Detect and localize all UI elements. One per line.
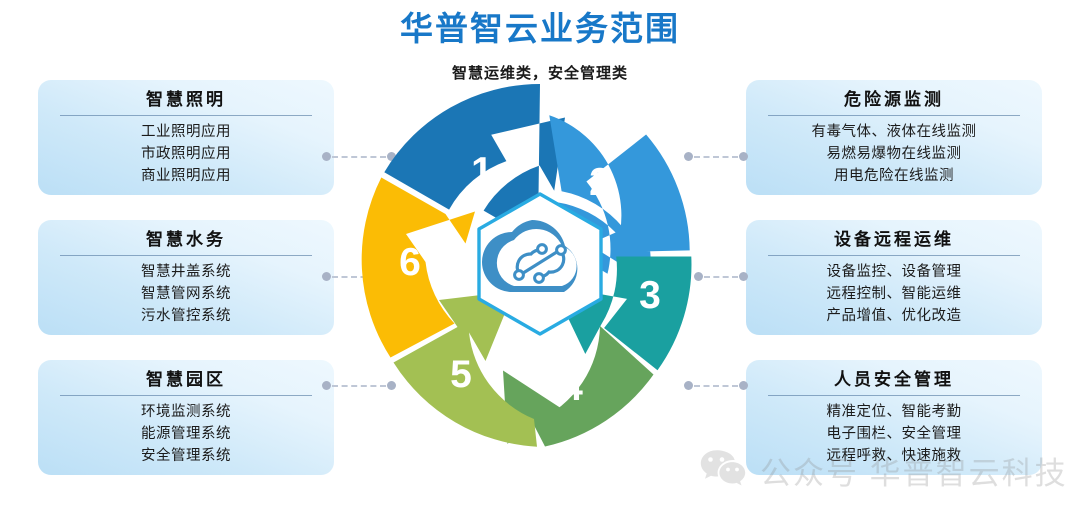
card-title: 智慧水务: [38, 229, 334, 251]
connector-dot: [322, 152, 331, 161]
card-line: 电子围栏、安全管理: [746, 423, 1042, 445]
card-line: 精准定位、智能考勤: [746, 401, 1042, 423]
page-subtitle: 智慧运维类，安全管理类: [0, 45, 1080, 83]
card-line: 设备监控、设备管理: [746, 261, 1042, 283]
card-line: 智慧井盖系统: [38, 261, 334, 283]
card-title: 设备远程运维: [746, 229, 1042, 251]
card-line-list: 工业照明应用 市政照明应用 商业照明应用: [38, 116, 334, 187]
card-title: 人员安全管理: [746, 369, 1042, 391]
segment-number-3: 3: [639, 274, 661, 317]
cycle-diagram: 1 2 3 4 5 6: [357, 82, 723, 448]
card-line: 产品增值、优化改造: [746, 305, 1042, 327]
connector-dot: [322, 272, 331, 281]
card-line: 安全管理系统: [38, 445, 334, 467]
card-line: 环境监测系统: [38, 401, 334, 423]
card-title: 智慧照明: [38, 89, 334, 111]
card-line: 远程呼救、快速施救: [746, 445, 1042, 467]
card-line: 市政照明应用: [38, 143, 334, 165]
segment-number-2: 2: [589, 161, 611, 204]
card-line: 能源管理系统: [38, 423, 334, 445]
card-smart-park[interactable]: 智慧园区 环境监测系统 能源管理系统 安全管理系统: [38, 360, 334, 475]
card-divider: [768, 395, 1020, 396]
card-line: 易燃易爆物在线监测: [746, 143, 1042, 165]
card-smart-lighting[interactable]: 智慧照明 工业照明应用 市政照明应用 商业照明应用: [38, 80, 334, 195]
card-line: 用电危险在线监测: [746, 165, 1042, 187]
card-smart-water[interactable]: 智慧水务 智慧井盖系统 智慧管网系统 污水管控系统: [38, 220, 334, 335]
card-divider: [60, 255, 312, 256]
title-area: 华普智云业务范围 智慧运维类，安全管理类: [0, 0, 1080, 83]
card-title: 智慧园区: [38, 369, 334, 391]
segment-number-4: 4: [561, 366, 583, 409]
card-line: 远程控制、智能运维: [746, 283, 1042, 305]
segment-number-1: 1: [471, 150, 493, 193]
card-divider: [768, 255, 1020, 256]
card-line-list: 环境监测系统 能源管理系统 安全管理系统: [38, 396, 334, 467]
card-line-list: 有毒气体、液体在线监测 易燃易爆物在线监测 用电危险在线监测: [746, 116, 1042, 187]
card-hazard-monitoring[interactable]: 危险源监测 有毒气体、液体在线监测 易燃易爆物在线监测 用电危险在线监测: [746, 80, 1042, 195]
connector-dot: [322, 381, 331, 390]
card-divider: [60, 115, 312, 116]
page-title: 华普智云业务范围: [0, 0, 1080, 45]
card-line: 智慧管网系统: [38, 283, 334, 305]
card-personnel-safety[interactable]: 人员安全管理 精准定位、智能考勤 电子围栏、安全管理 远程呼救、快速施救: [746, 360, 1042, 475]
card-line-list: 精准定位、智能考勤 电子围栏、安全管理 远程呼救、快速施救: [746, 396, 1042, 467]
card-line: 有毒气体、液体在线监测: [746, 121, 1042, 143]
segment-number-5: 5: [450, 353, 472, 396]
card-line-list: 设备监控、设备管理 远程控制、智能运维 产品增值、优化改造: [746, 256, 1042, 327]
card-divider: [768, 115, 1020, 116]
card-line: 工业照明应用: [38, 121, 334, 143]
connector-dot: [739, 152, 748, 161]
card-line: 污水管控系统: [38, 305, 334, 327]
card-title: 危险源监测: [746, 89, 1042, 111]
wechat-icon: [700, 449, 746, 492]
card-divider: [60, 395, 312, 396]
connector-dot: [739, 381, 748, 390]
card-line: 商业照明应用: [38, 165, 334, 187]
segment-number-6: 6: [399, 241, 421, 284]
connector-dot: [739, 272, 748, 281]
card-line-list: 智慧井盖系统 智慧管网系统 污水管控系统: [38, 256, 334, 327]
card-remote-ops[interactable]: 设备远程运维 设备监控、设备管理 远程控制、智能运维 产品增值、优化改造: [746, 220, 1042, 335]
